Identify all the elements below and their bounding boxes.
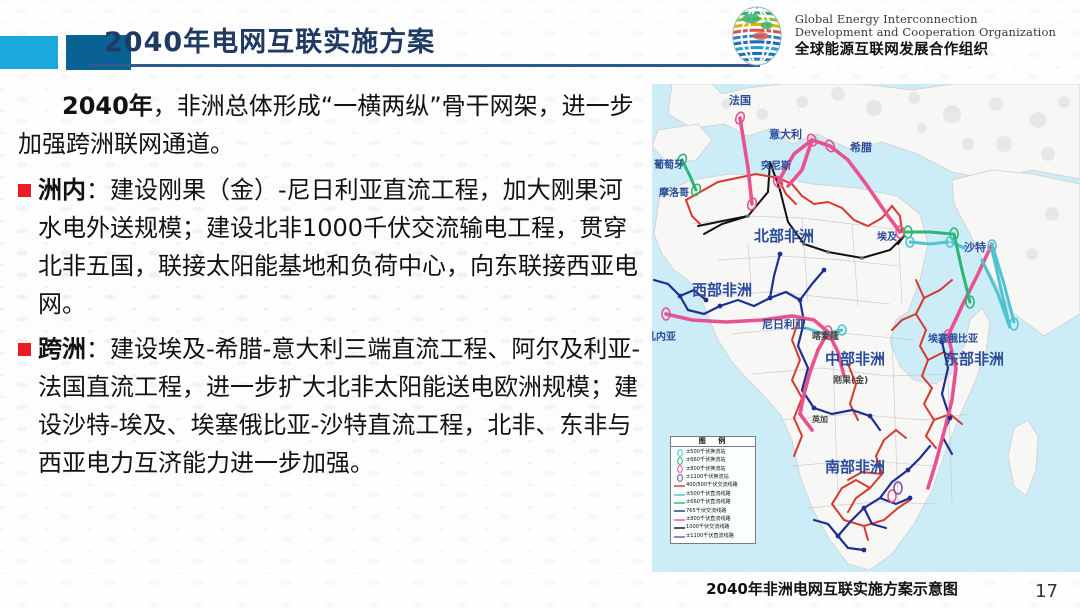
legend-item-label: ±660千伏直流线路 <box>686 500 731 505</box>
bullet-label: 跨洲 <box>38 335 86 363</box>
legend-item-label: 1000千伏交流线路 <box>686 525 730 530</box>
legend-item: ±1100千伏换流站 <box>673 474 753 482</box>
legend-item: ±500千伏直流线路 <box>673 490 753 498</box>
legend-item-label: ±500千伏直流线路 <box>686 492 731 497</box>
legend-item: 765千伏交流线路 <box>673 507 753 515</box>
map-label-north-africa: 北部非洲 <box>754 225 814 246</box>
bullet-square-icon <box>18 343 31 356</box>
legend-item-label: 765千伏交流线路 <box>686 509 726 514</box>
legend-item: ±500千伏换流站 <box>673 448 753 456</box>
map-label-guinea: 几内亚 <box>652 328 676 343</box>
bullet-square-icon <box>18 184 31 197</box>
lead-year: 2040年 <box>62 92 153 120</box>
line-icon <box>673 518 686 522</box>
map-label-west-africa: 西部非洲 <box>692 279 752 300</box>
map-label-morocco: 摩洛哥 <box>659 184 689 199</box>
legend-item-label: ±1100千伏换流站 <box>686 475 729 480</box>
lead-paragraph: 2040年，非洲总体形成“一横两纵”骨干网架，进一步加强跨洲联网通道。 <box>18 88 643 164</box>
map-label-france: 法国 <box>729 92 751 108</box>
line-icon <box>673 526 686 530</box>
legend-item: 400/500千伏交流线路 <box>673 482 753 490</box>
legend-item: ±800千伏换流站 <box>673 465 753 473</box>
africa-grid-map: 法国 意大利 希腊 葡萄牙 突尼斯 摩洛哥 北部非洲 埃及 沙特 西部非洲 几内… <box>652 84 1080 572</box>
line-icon <box>673 501 686 505</box>
map-label-ethiopia: 埃塞俄比亚 <box>928 330 978 345</box>
header-underline <box>90 64 760 67</box>
organization-logo: Global Energy Interconnection Developmen… <box>728 6 1056 66</box>
map-label-inga: 英加 <box>812 414 828 425</box>
header-accent-square-cyan <box>0 36 58 69</box>
map-caption: 2040年非洲电网互联实施方案示意图 <box>652 578 1012 599</box>
map-label-tunisia: 突尼斯 <box>761 157 791 172</box>
line-icon <box>673 509 686 513</box>
map-label-egypt: 埃及 <box>877 228 897 243</box>
line-icon <box>673 535 686 539</box>
page-title: 2040年电网互联实施方案 <box>104 20 435 59</box>
map-label-central-africa: 中部非洲 <box>825 348 885 369</box>
station-icon <box>673 474 686 482</box>
bullet-item: 洲内：建设刚果（金）-尼日利亚直流工程，加大刚果河水电外送规模；建设北非1000… <box>18 172 643 324</box>
map-label-portugal: 葡萄牙 <box>654 156 684 171</box>
map-label-greece: 希腊 <box>850 139 872 155</box>
globe-icon <box>728 6 786 66</box>
map-label-saudi-arabia: 沙特 <box>964 239 986 255</box>
map-legend: 图 例 ±500千伏换流站 ±660千伏换流站 ±800千伏换流站 ±1100千… <box>670 436 756 544</box>
slide-header: 2040年电网互联实施方案 <box>0 0 1080 78</box>
bullet-item: 跨洲：建设埃及-希腊-意大利三端直流工程、阿尔及利亚-法国直流工程，进一步扩大北… <box>18 331 643 483</box>
logo-chinese-name: 全球能源互联网发展合作组织 <box>795 42 1056 59</box>
legend-item: 1000千伏交流线路 <box>673 524 753 532</box>
legend-item-label: ±800千伏换流站 <box>686 467 725 472</box>
legend-rows: ±500千伏换流站 ±660千伏换流站 ±800千伏换流站 ±1100千伏换流站… <box>671 447 755 542</box>
legend-item-label: ±500千伏换流站 <box>686 450 725 455</box>
bullet-label: 洲内 <box>38 176 86 204</box>
slide-body-text: 2040年，非洲总体形成“一横两纵”骨干网架，进一步加强跨洲联网通道。 洲内：建… <box>18 88 643 483</box>
page-number: 17 <box>1035 581 1058 602</box>
map-label-cameroon: 喀麦隆 <box>812 329 839 342</box>
station-icon <box>673 457 686 465</box>
line-icon <box>673 493 686 497</box>
map-label-southern-africa: 南部非洲 <box>825 456 885 477</box>
map-label-italy: 意大利 <box>769 126 802 142</box>
legend-item-label: ±800千伏直流线路 <box>686 517 731 522</box>
legend-item: ±660千伏换流站 <box>673 457 753 465</box>
legend-title: 图 例 <box>671 437 755 447</box>
legend-item-label: 400/500千伏交流线路 <box>686 483 738 488</box>
logo-english-line1: Global Energy Interconnection <box>795 13 1056 27</box>
legend-item: ±660千伏直流线路 <box>673 499 753 507</box>
station-icon <box>673 465 686 473</box>
logo-english-line2: Development and Cooperation Organization <box>795 26 1056 40</box>
map-label-nigeria: 尼日利亚 <box>762 316 806 332</box>
bullet-text: ：建设埃及-希腊-意大利三端直流工程、阿尔及利亚-法国直流工程，进一步扩大北非太… <box>38 335 640 477</box>
map-label-dr-congo: 刚果(金) <box>833 373 868 386</box>
legend-item: ±800千伏直流线路 <box>673 516 753 524</box>
station-icon <box>673 449 686 457</box>
bullet-text: ：建设刚果（金）-尼日利亚直流工程，加大刚果河水电外送规模；建设北非1000千伏… <box>38 176 638 318</box>
map-label-east-africa: 东部非洲 <box>944 348 1004 369</box>
legend-item-label: ±660千伏换流站 <box>686 458 725 463</box>
line-icon <box>673 484 686 488</box>
legend-item-label: ±1100千伏直流线路 <box>686 534 734 539</box>
legend-item: ±1100千伏直流线路 <box>673 532 753 540</box>
